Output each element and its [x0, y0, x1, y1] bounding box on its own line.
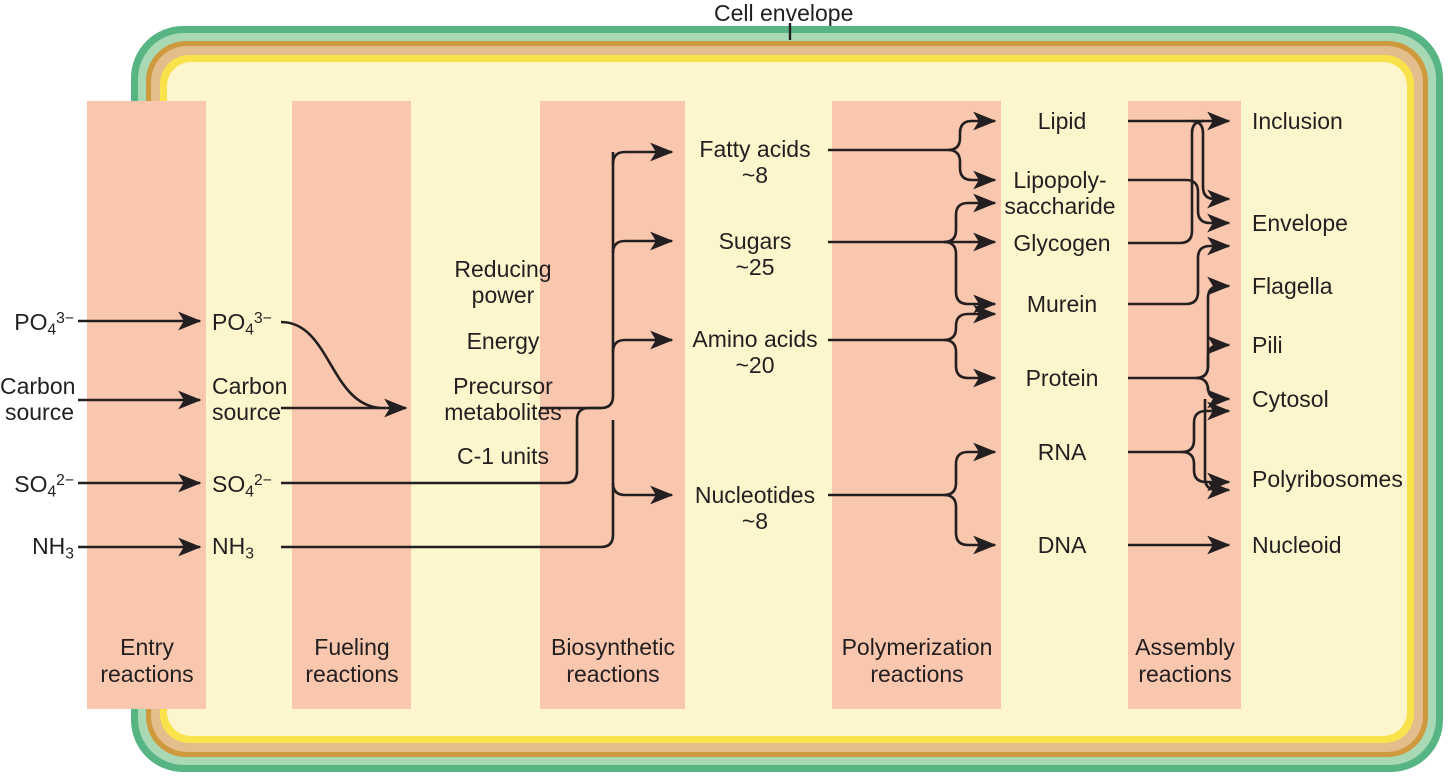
nutrient-outside-ammonia: NH3: [0, 533, 74, 567]
fueling-product-reducing-power: Reducingpower: [398, 256, 608, 308]
band-entry: [87, 101, 206, 709]
nutrient-outside-phosphate: PO43−: [0, 306, 74, 343]
building-block-fatty-acids: Fatty acids~8: [680, 136, 830, 188]
structure-inclusion: Inclusion: [1252, 108, 1442, 134]
macromolecule-protein: Protein: [1001, 365, 1123, 391]
macromolecule-murein: Murein: [1001, 291, 1123, 317]
structure-envelope: Envelope: [1252, 210, 1442, 236]
column-label-fueling: Fuelingreactions: [262, 634, 442, 688]
page-title: Cell envelope: [714, 0, 853, 27]
structure-nucleoid: Nucleoid: [1252, 532, 1442, 558]
column-label-entry: Entryreactions: [57, 634, 237, 688]
macromolecule-lipid: Lipid: [1001, 108, 1123, 134]
column-label-assembly: Assemblyreactions: [1095, 634, 1275, 688]
macromolecule-lipopolysaccharide: Lipopoly-saccharide: [995, 167, 1125, 219]
band-assembly: [1128, 101, 1241, 709]
nutrient-inside-phosphate: PO43−: [212, 306, 322, 343]
structure-pili: Pili: [1252, 332, 1442, 358]
nutrient-inside-ammonia: NH3: [212, 533, 322, 567]
fueling-product-energy: Energy: [398, 328, 608, 354]
nutrient-inside-sulfate: SO42−: [212, 468, 322, 505]
building-block-nucleotides: Nucleotides~8: [680, 482, 830, 534]
fueling-product-precursor-metabolites: Precursormetabolites: [398, 373, 608, 425]
column-label-biosynthetic: Biosyntheticreactions: [522, 634, 704, 688]
macromolecule-rna: RNA: [1001, 439, 1123, 465]
nutrient-outside-carbon-source: Carbonsource: [0, 373, 74, 425]
building-block-sugars: Sugars~25: [680, 228, 830, 280]
nutrient-inside-carbon-source: Carbonsource: [212, 373, 322, 425]
structure-cytosol: Cytosol: [1252, 386, 1442, 412]
nutrient-outside-sulfate: SO42−: [0, 468, 74, 505]
building-block-amino-acids: Amino acids~20: [680, 326, 830, 378]
macromolecule-glycogen: Glycogen: [1001, 230, 1123, 256]
fueling-product-c1-units: C-1 units: [398, 443, 608, 469]
macromolecule-dna: DNA: [1001, 532, 1123, 558]
structure-flagella: Flagella: [1252, 273, 1442, 299]
cell-metabolism-diagram: Cell envelope PO43− Carbonsource SO42− N…: [0, 0, 1451, 783]
band-polymerization: [832, 101, 1001, 709]
column-label-polymerization: Polymerizationreactions: [822, 634, 1012, 688]
structure-polyribosomes: Polyribosomes: [1252, 466, 1447, 492]
